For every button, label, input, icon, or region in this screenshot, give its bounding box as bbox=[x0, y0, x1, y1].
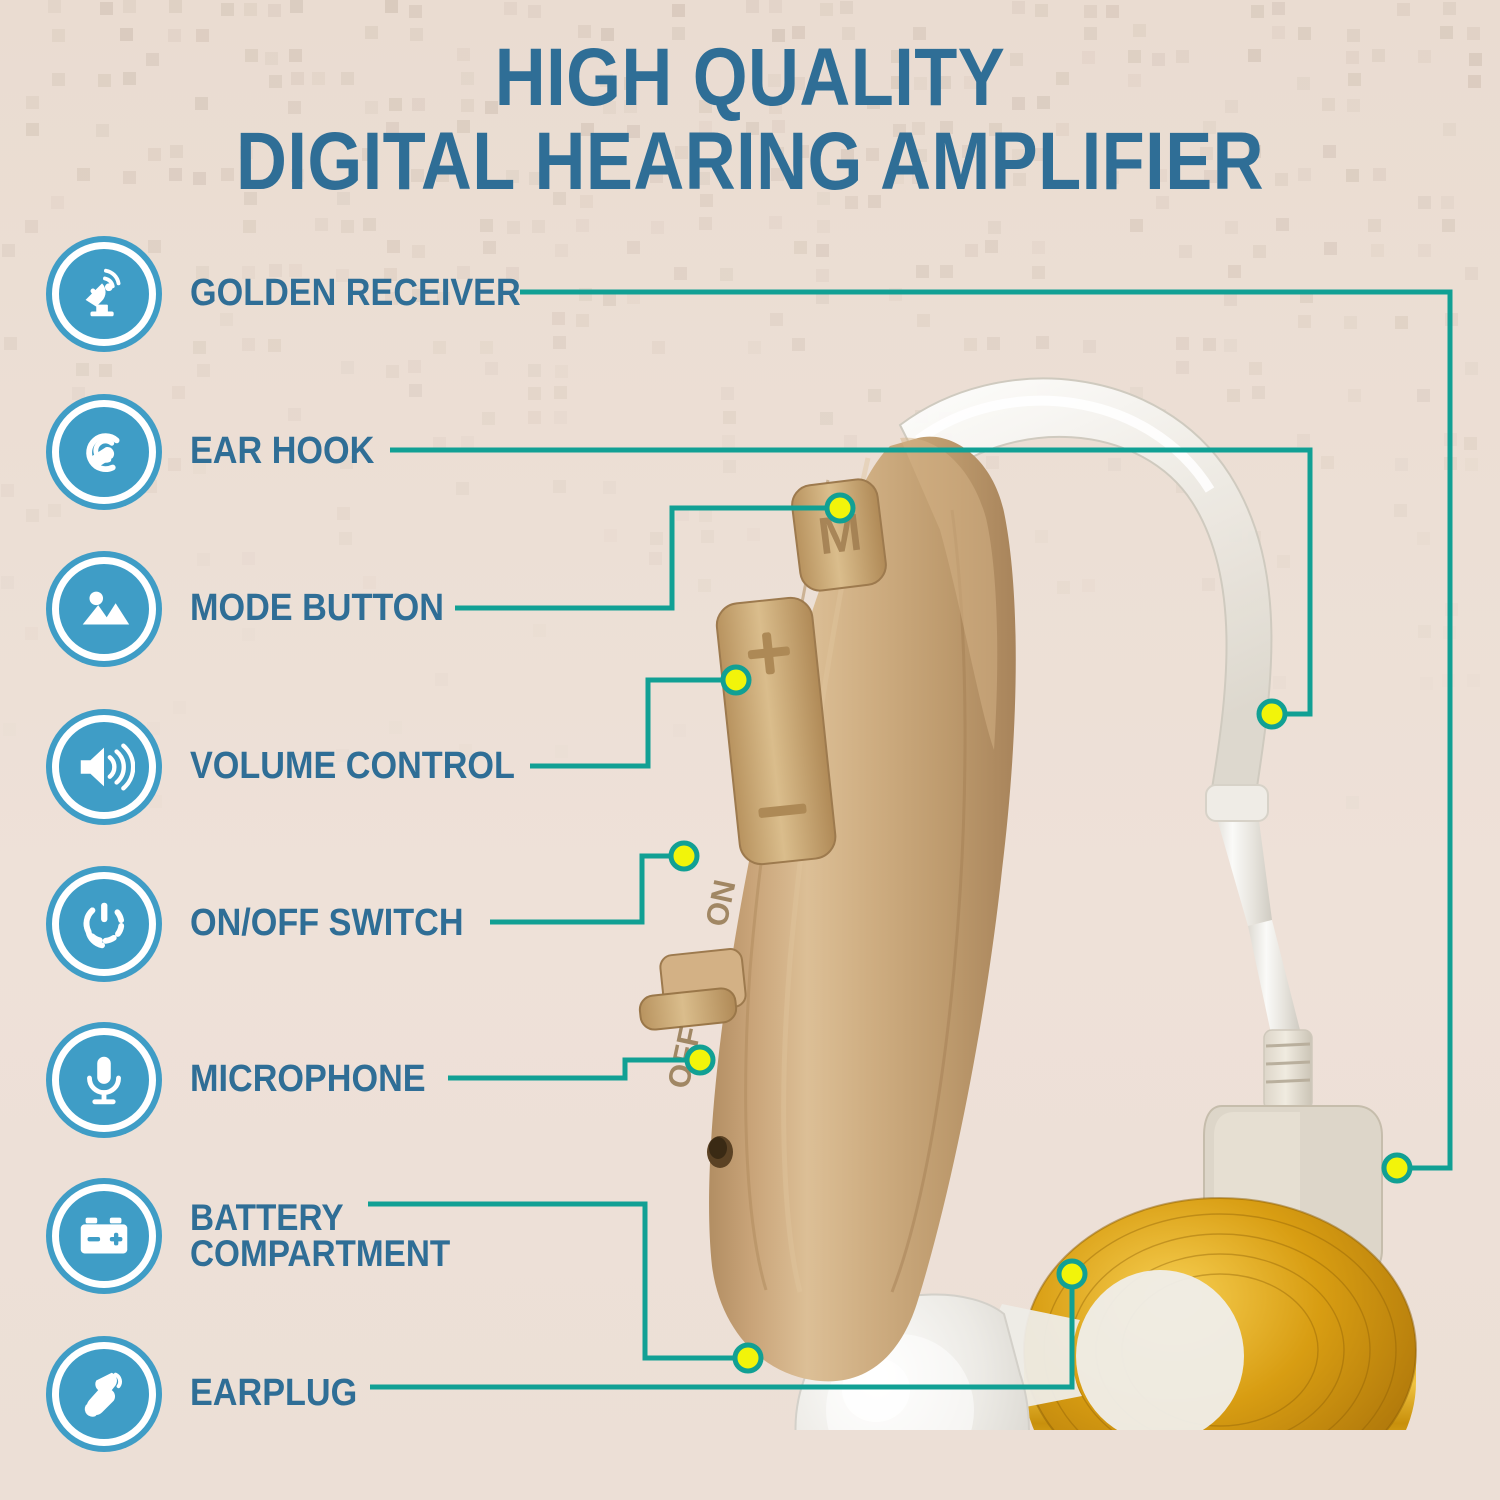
satellite-dish-icon bbox=[52, 242, 156, 346]
feature-label-earplug: EARPLUG bbox=[190, 1375, 357, 1412]
microphone-icon bbox=[52, 1028, 156, 1132]
ear-hook-icon bbox=[52, 400, 156, 504]
feature-row-microphone[interactable]: MICROPHONE bbox=[52, 1024, 452, 1136]
feature-row-golden-receiver[interactable]: GOLDEN RECEIVER bbox=[52, 238, 557, 350]
feature-label-battery-compartment: BATTERY COMPARTMENT bbox=[190, 1200, 450, 1273]
feature-row-volume-control[interactable]: VOLUME CONTROL bbox=[52, 711, 551, 823]
power-button-icon bbox=[52, 872, 156, 976]
feature-row-earplug[interactable]: EARPLUG bbox=[52, 1338, 376, 1450]
hearing-amplifier-photo: M ON OFF bbox=[600, 330, 1500, 1430]
feature-label-mode-button: MODE BUTTON bbox=[190, 590, 444, 627]
battery-icon bbox=[52, 1184, 156, 1288]
svg-text:M: M bbox=[815, 503, 865, 566]
feature-row-mode-button[interactable]: MODE BUTTON bbox=[52, 553, 472, 665]
svg-text:ON: ON bbox=[699, 877, 743, 930]
infographic-poster: HIGH QUALITY DIGITAL HEARING AMPLIFIER bbox=[0, 0, 1500, 1500]
mountain-image-icon bbox=[52, 557, 156, 661]
device-mode-button: M bbox=[790, 477, 888, 593]
speaker-volume-icon bbox=[52, 715, 156, 819]
feature-row-onoff-switch[interactable]: ON/OFF SWITCH bbox=[52, 868, 494, 980]
feature-label-microphone: MICROPHONE bbox=[190, 1061, 426, 1098]
feature-row-battery-compartment[interactable]: BATTERY COMPARTMENT bbox=[52, 1180, 479, 1292]
earplug-icon bbox=[52, 1342, 156, 1446]
feature-row-ear-hook[interactable]: EAR HOOK bbox=[52, 396, 395, 508]
feature-label-column: GOLDEN RECEIVER EAR HOOK M bbox=[0, 0, 700, 1500]
feature-label-ear-hook: EAR HOOK bbox=[190, 433, 374, 470]
feature-label-golden-receiver: GOLDEN RECEIVER bbox=[190, 275, 521, 312]
feature-label-onoff-switch: ON/OFF SWITCH bbox=[190, 905, 464, 942]
feature-label-volume-control: VOLUME CONTROL bbox=[190, 748, 515, 785]
